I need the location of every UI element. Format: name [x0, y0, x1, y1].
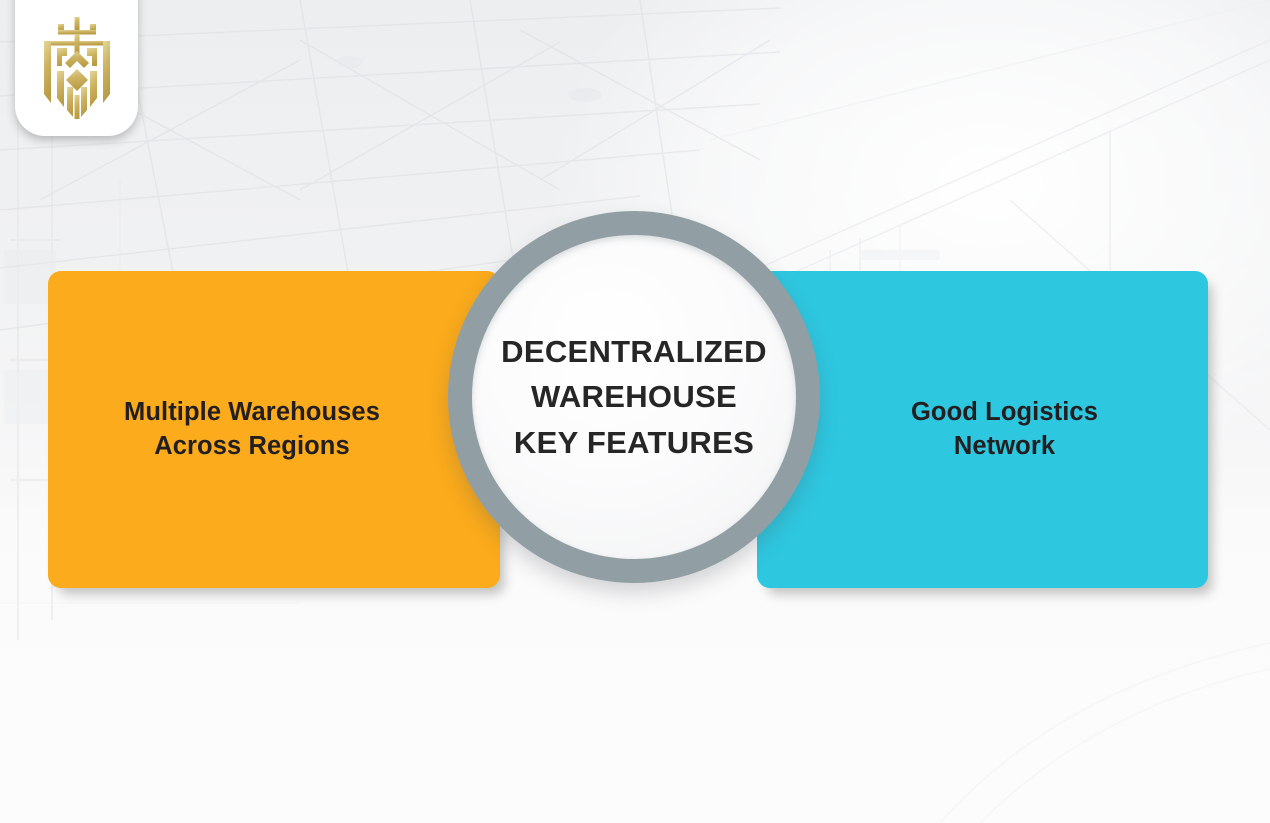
shield-crest-logo-icon: [33, 15, 121, 119]
center-hub-title: DECENTRALIZED WAREHOUSE KEY FEATURES: [493, 329, 775, 466]
brand-logo-badge[interactable]: [15, 0, 138, 136]
feature-card-right[interactable]: Good Logistics Network: [757, 271, 1208, 588]
feature-card-left[interactable]: Multiple Warehouses Across Regions: [48, 271, 500, 588]
center-hub-ring: DECENTRALIZED WAREHOUSE KEY FEATURES: [448, 211, 820, 583]
feature-card-right-label: Good Logistics Network: [883, 396, 1126, 464]
feature-card-left-label: Multiple Warehouses Across Regions: [96, 396, 408, 464]
infographic-canvas: Multiple Warehouses Across Regions Good …: [0, 0, 1270, 823]
center-hub-inner: DECENTRALIZED WAREHOUSE KEY FEATURES: [472, 235, 796, 559]
